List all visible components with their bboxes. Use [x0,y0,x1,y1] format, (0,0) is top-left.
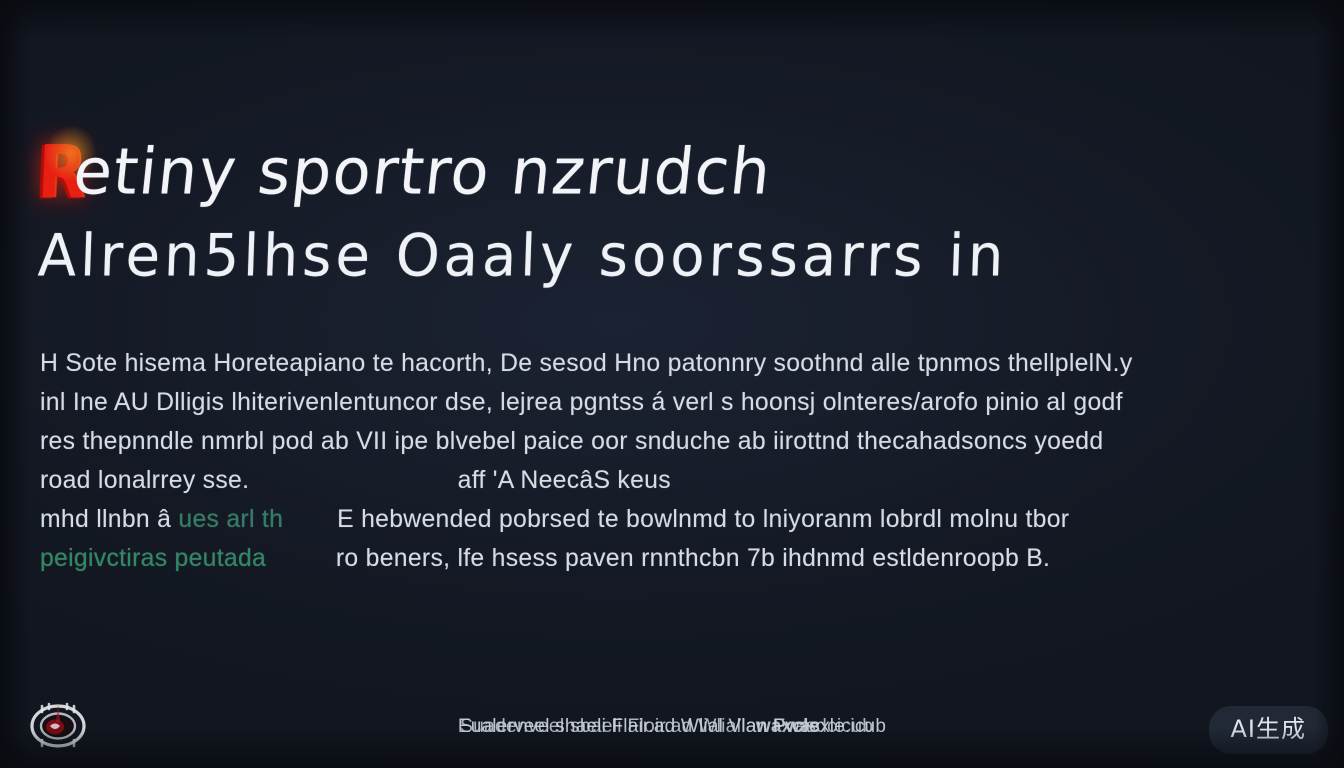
footer-text-bold: waxcle [756,713,820,741]
ai-generated-badge: AI生成 [1209,706,1329,754]
body-text-segment-trailing: E hebwended pobrsed te bowlnmd to lniyor… [337,505,1069,533]
highlight-green-segment: ues arl th [178,505,283,533]
body-paragraph: H Sote hisema Horeteapiano te hacorth, D… [40,344,1330,578]
body-text-segment: inl Ine AU Dlligis lhiterivenlentuncor d… [40,388,1123,416]
footer-text-stack: Eualerveel shaeli Flair.ad Wlial Vlan Pw… [458,713,886,741]
title-block: Retiny sportro nzrudch Alren5lhse Oaaly … [38,128,1318,298]
footer-caption: Eualerveel shaeli Flair.ad Wlial Vlan Pw… [0,713,1344,741]
body-text-segment-trailing: ro beners, lfe hsess paven rnnthcbn 7b i… [336,544,1050,572]
body-line: road lonalrrey sse. aff 'A NeecâS keus [40,461,1317,500]
title-line-2-text: Alren5lhse Oaaly soorssarrs in [37,214,1009,299]
body-line: res thepnndle nmrbl pod ab VII ipe blveb… [40,422,1317,461]
body-line: mhd llnbn â ues arl th E hebwended pobrs… [40,500,1317,539]
body-text-segment: res thepnndle nmrbl pod ab VII ipe blveb… [40,427,1103,455]
body-line: peigivctiras peutada ro beners, lfe hses… [40,539,1317,578]
body-text-segment: mhd llnbn â [40,505,178,533]
highlight-green-segment: peigivctiras peutada [40,544,266,572]
title-line-1: Retiny sportro nzrudch [38,128,1318,216]
title-line-2: Alren5lhse Oaaly soorssarrs in [38,214,1318,299]
slide-canvas: Retiny sportro nzrudch Alren5lhse Oaaly … [0,0,1344,768]
title-line-1-text: etiny sportro nzrudch [69,127,776,218]
body-line: H Sote hisema Horeteapiano te hacorth, D… [40,344,1317,383]
body-text-segment: road lonalrrey sse. [40,466,249,494]
body-line: inl Ine AU Dlligis lhiterivenlentuncor d… [40,383,1317,422]
body-text-segment: H Sote hisema Horeteapiano te hacorth, D… [40,349,1132,377]
body-text-segment-trailing: aff 'A NeecâS keus [458,466,671,494]
